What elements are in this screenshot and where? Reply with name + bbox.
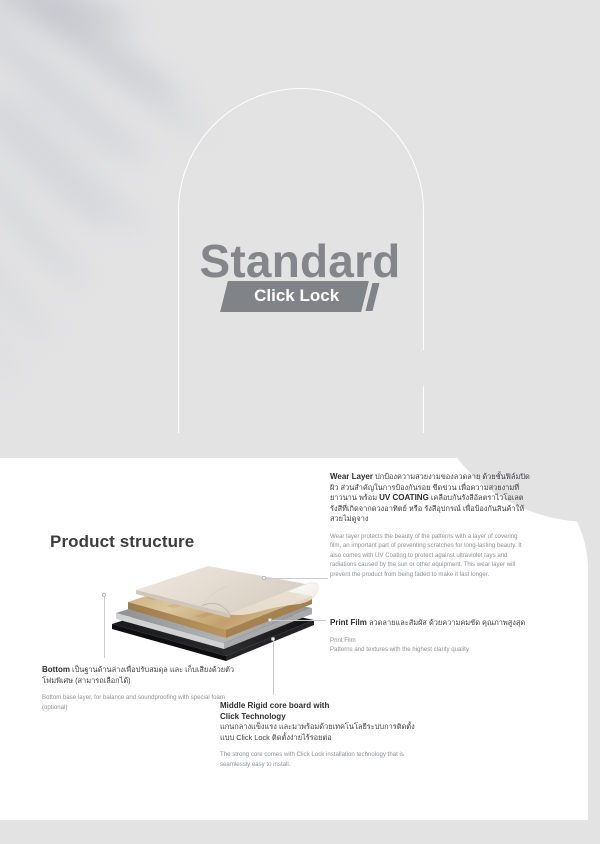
callout-print-film-english: Print Film Patterns and textures with th…	[330, 636, 530, 655]
page-title: Product structure	[50, 532, 194, 552]
leader-line-wear-layer	[266, 578, 328, 579]
leader-dot-print-film	[268, 618, 272, 622]
leader-dot-wear-layer	[262, 576, 266, 580]
callout-middle-core-label-line2: Click Technology	[220, 711, 420, 722]
callout-wear-layer: Wear Layer ปกป้องความสวยงามของลวดลาย ด้ว…	[330, 472, 530, 579]
leader-line-bottom	[104, 596, 105, 658]
callout-print-film-thai-body: ลวดลายและสัมผัส ด้วยความคมชัด คุณภาพสูงส…	[367, 618, 525, 627]
callout-wear-layer-uv-coating: UV COATING	[379, 493, 429, 502]
leader-line-middle-core	[273, 640, 274, 695]
callout-middle-core-label-line1: Middle Rigid core board with	[220, 700, 420, 711]
callout-middle-core-thai: แกนกลางแข็งแรง และมาพร้อมด้วยเทคโนโลยีระ…	[220, 722, 420, 743]
callout-bottom-english: Bottom base layer, for balance and sound…	[42, 693, 237, 712]
callout-wear-layer-label: Wear Layer	[330, 472, 373, 481]
callout-bottom-thai-body: เป็นฐานด้านล่างเพื่อปรับสมดุล และ เก็บเส…	[42, 665, 234, 685]
hero-title: Standard	[0, 234, 600, 288]
callout-wear-layer-english: Wear layer protects the beauty of the pa…	[330, 532, 530, 579]
leader-dot-bottom	[102, 593, 106, 597]
badge-tick-accent	[366, 283, 380, 311]
leader-dot-middle-core	[271, 637, 275, 641]
click-lock-badge-label: Click Lock	[254, 286, 339, 306]
flooring-layers-diagram	[106, 558, 320, 668]
callout-bottom: Bottom เป็นฐานด้านล่างเพื่อปรับสมดุล และ…	[42, 665, 237, 712]
callout-print-film-thai: Print Film ลวดลายและสัมผัส ด้วยความคมชัด…	[330, 618, 530, 629]
callout-bottom-label: Bottom	[42, 665, 70, 674]
callout-middle-core-english: The strong core comes with Click Lock in…	[220, 750, 420, 769]
callout-middle-core: Middle Rigid core board with Click Techn…	[220, 700, 420, 769]
callout-print-film-label: Print Film	[330, 618, 367, 627]
callout-wear-layer-thai: Wear Layer ปกป้องความสวยงามของลวดลาย ด้ว…	[330, 472, 530, 525]
callout-print-film-english-label: Print Film	[330, 636, 530, 645]
leader-line-print-film	[272, 620, 326, 621]
click-lock-badge: Click Lock	[220, 281, 369, 312]
page-right-margin	[588, 0, 600, 844]
hero-badge: Click Lock	[0, 281, 600, 312]
page-bottom-margin	[0, 820, 600, 844]
poster-page: Standard Click Lock Product structure	[0, 0, 600, 844]
callout-print-film-english-body: Patterns and textures with the highest c…	[330, 645, 530, 654]
callout-print-film: Print Film ลวดลายและสัมผัส ด้วยความคมชัด…	[330, 618, 530, 654]
callout-bottom-thai: Bottom เป็นฐานด้านล่างเพื่อปรับสมดุล และ…	[42, 665, 237, 686]
